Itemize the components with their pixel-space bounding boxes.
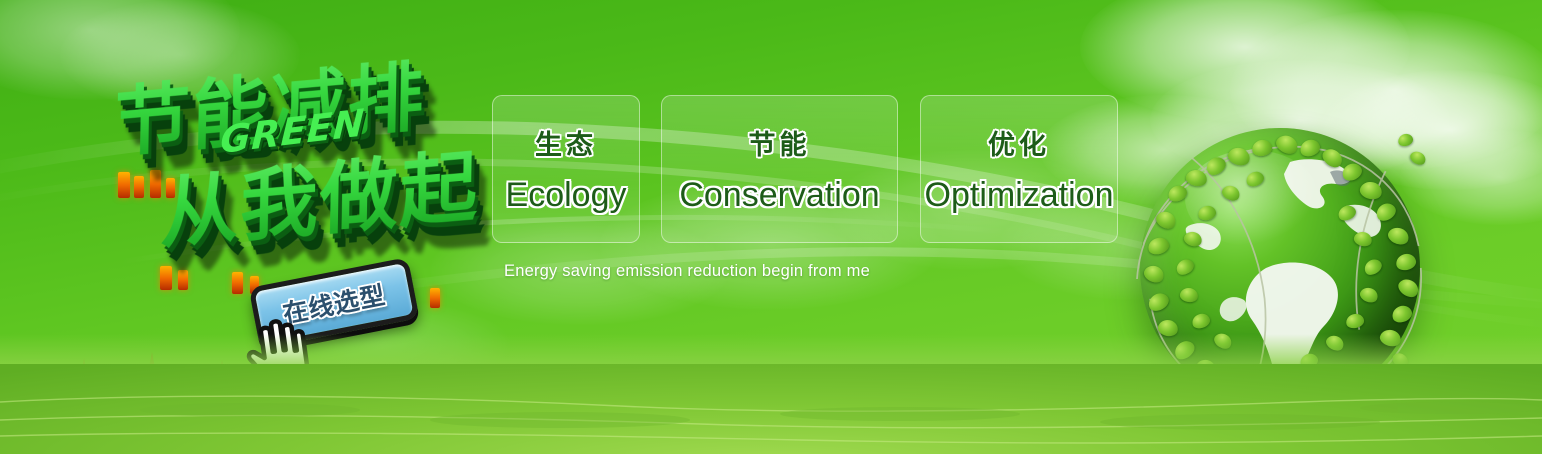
ember-decoration bbox=[118, 172, 130, 198]
ember-decoration bbox=[160, 266, 172, 290]
feature-card-title-en: Ecology bbox=[506, 176, 627, 215]
feature-card-optimization[interactable]: 优化 Optimization bbox=[920, 95, 1118, 243]
ember-decoration bbox=[150, 170, 161, 198]
ember-decoration bbox=[134, 176, 144, 198]
feature-card-title-cn: 生态 bbox=[535, 123, 597, 162]
eco-banner: 节能减排 从我做起 GREEN 生态 Ecology 节能 Conservati… bbox=[0, 0, 1542, 454]
ember-decoration bbox=[178, 270, 188, 290]
cloud-icon bbox=[1080, 0, 1410, 122]
meadow-texture bbox=[0, 358, 1542, 454]
feature-card-title-cn: 节能 bbox=[749, 123, 811, 162]
ember-decoration bbox=[430, 288, 440, 308]
headline-artwork: 节能减排 从我做起 GREEN bbox=[100, 44, 480, 259]
ember-decoration bbox=[232, 272, 243, 294]
feature-card-ecology[interactable]: 生态 Ecology bbox=[492, 95, 640, 243]
tagline: Energy saving emission reduction begin f… bbox=[504, 262, 870, 281]
feature-card-conservation[interactable]: 节能 Conservation bbox=[661, 95, 898, 243]
feature-card-title-en: Optimization bbox=[925, 176, 1114, 215]
feature-card-title-en: Conservation bbox=[679, 176, 879, 215]
feature-card-title-cn: 优化 bbox=[988, 123, 1050, 162]
